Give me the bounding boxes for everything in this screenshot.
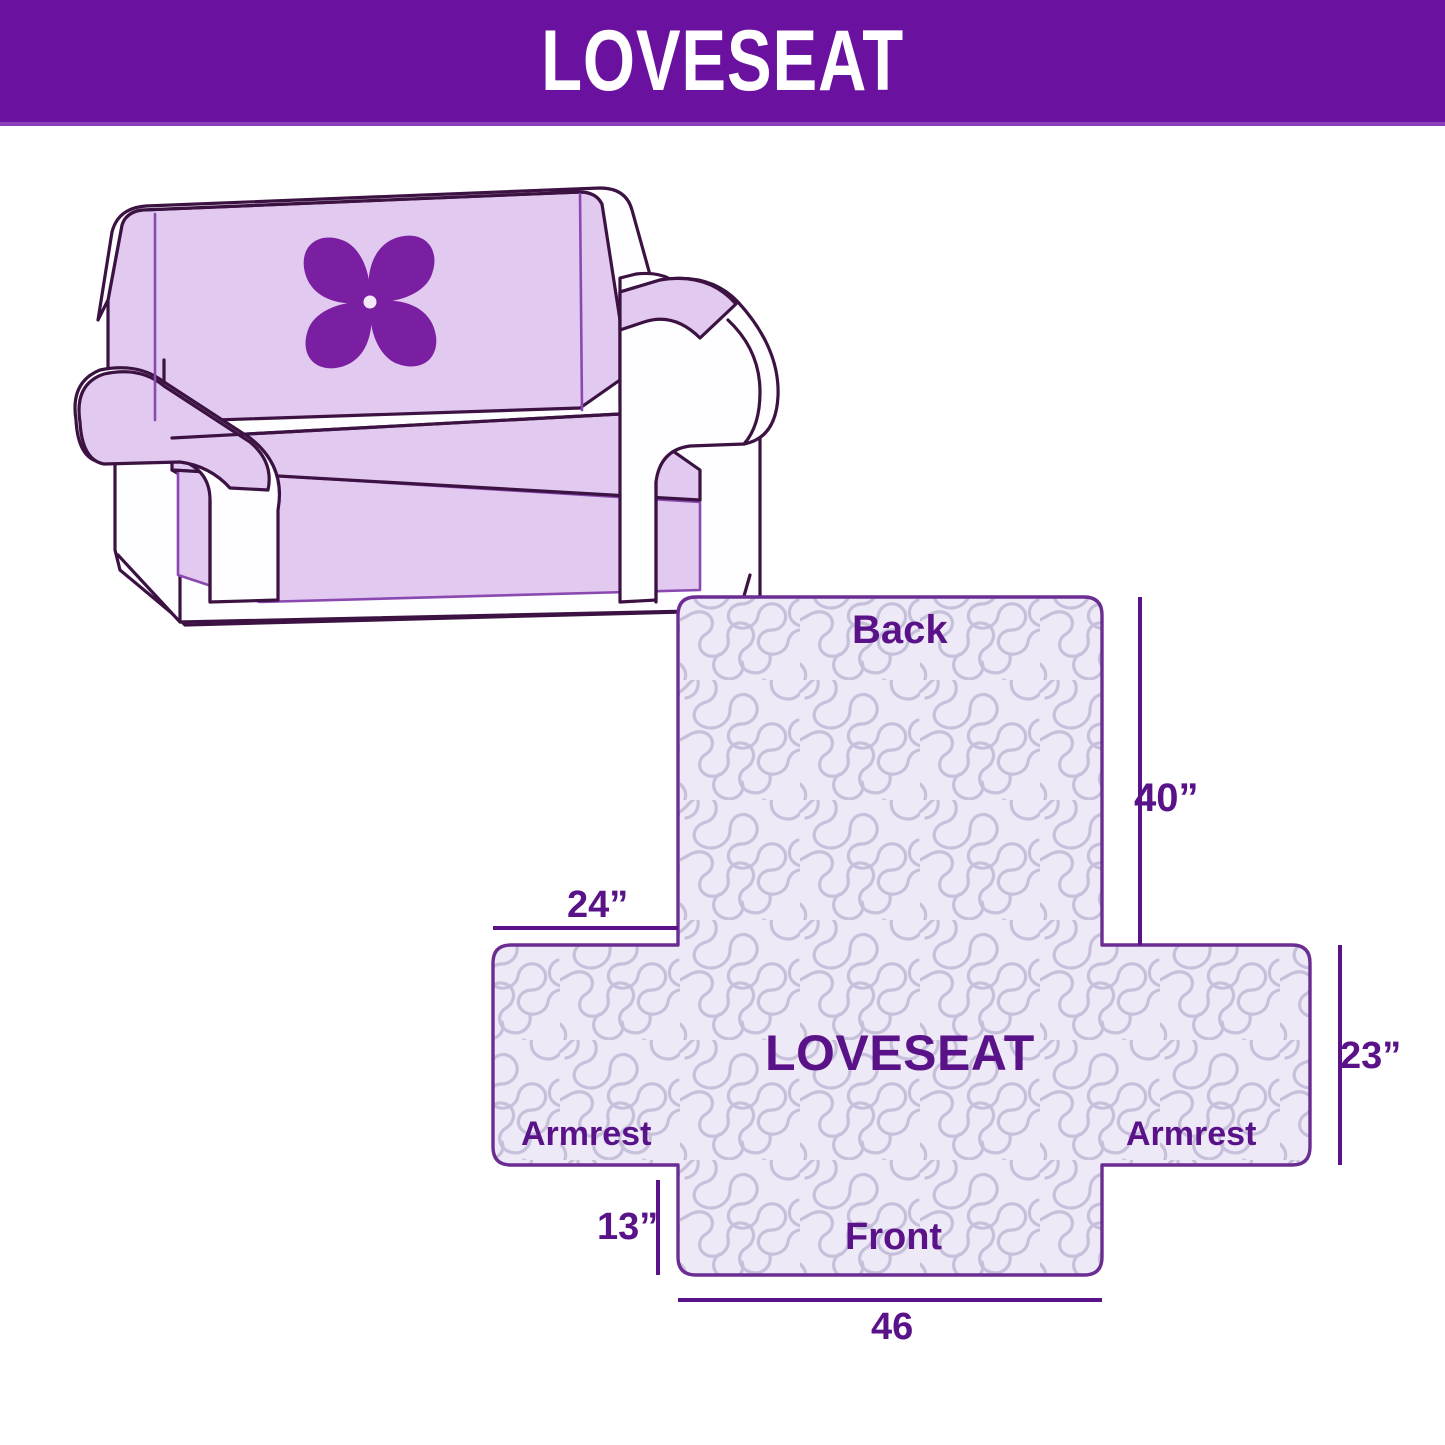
dimension-label-back-height: 40” — [1134, 778, 1199, 818]
panel-label-armrest-left: Armrest — [521, 1117, 651, 1151]
dimension-label-front-height: 13” — [597, 1208, 658, 1246]
dimension-label-armrest-height: 23” — [1340, 1037, 1401, 1075]
panel-label-back: Back — [852, 610, 948, 650]
cover-template-diagram: .panelpath { fill: url(#stipple); stroke… — [440, 560, 1445, 1390]
dimension-label-front-width: 46 — [871, 1308, 913, 1346]
panel-label-seat: LOVESEAT — [765, 1028, 1035, 1078]
header-banner-underline — [0, 122, 1445, 126]
panel-label-armrest-right: Armrest — [1126, 1117, 1256, 1151]
page-title: LOVESEAT — [541, 18, 904, 104]
panel-label-front: Front — [845, 1218, 942, 1256]
cover-template-outline — [493, 597, 1310, 1275]
header-banner: LOVESEAT — [0, 0, 1445, 122]
dimension-label-back-offset: 24” — [567, 886, 628, 924]
